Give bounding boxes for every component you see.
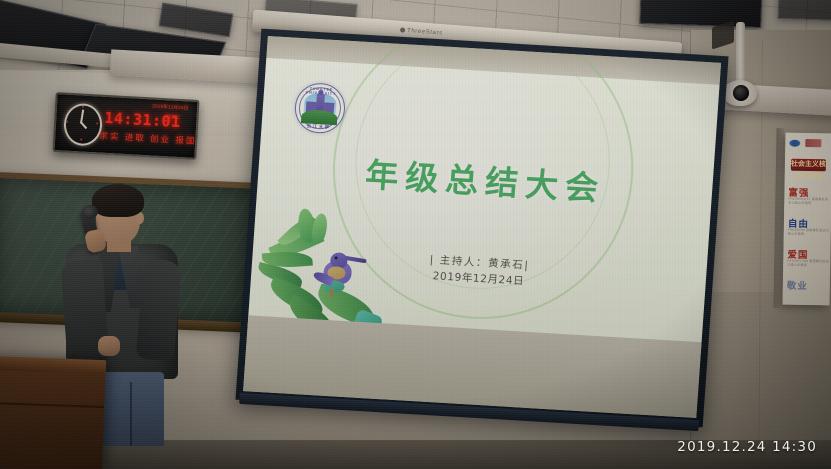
lecture-hall-photo: 2019年12月24日 星期二 14:31:01 求实 进取 创业 报国 Thr…: [0, 0, 831, 469]
screen-surface: YANGTZE UNIVERSITY 长江大学 年级总结大会 | 主持人：黄承石…: [243, 36, 721, 418]
presenter-hand-gesturing: [98, 336, 120, 356]
led-clock-panel: 2019年12月24日 星期二 14:31:01 求实 进取 创业 报国: [52, 92, 199, 160]
university-logo: YANGTZE UNIVERSITY 长江大学: [293, 82, 346, 135]
led-time: 14:31:01: [104, 109, 181, 131]
analog-clock-icon: [61, 101, 103, 145]
led-date: 2019年12月24日: [152, 103, 189, 111]
led-motto: 求实 进取 创业 报国: [99, 130, 197, 147]
projection-screen: YANGTZE UNIVERSITY 长江大学 年级总结大会 | 主持人：黄承石…: [235, 29, 728, 428]
poster-value-2-sub: FREEDOM 自由是社会主义核心价值观: [788, 228, 831, 237]
poster-banner-text: 社会主义核心价值观: [791, 159, 826, 184]
camera-lens-icon: [733, 85, 749, 101]
core-values-poster: 社会主义核心价值观 富强 PROSPERITY 富强是社会主义核心价值观 自由 …: [783, 133, 831, 306]
poster-banner: 社会主义核心价值观: [791, 159, 826, 172]
presenter-hair: [92, 184, 144, 217]
ceiling-light-fixture: [778, 0, 831, 21]
jeans-seam: [130, 382, 132, 446]
poster-logo-icon: [789, 140, 800, 147]
poster-value-1-sub: PROSPERITY 富强是社会主义核心价值观: [788, 197, 831, 206]
camera-timestamp: 2019.12.24 14:30: [677, 439, 817, 455]
poster-value-3-sub: PATRIOTISM 爱国是社会主义核心价值观: [787, 259, 830, 268]
poster-value-4: 敬业: [787, 278, 808, 292]
presenter-jeans: [102, 372, 164, 446]
poster-wordmark: [805, 139, 821, 147]
projected-slide: YANGTZE UNIVERSITY 长江大学 年级总结大会 | 主持人：黄承石…: [248, 58, 720, 352]
wooden-podium: [0, 358, 106, 469]
brand-dot-icon: [400, 27, 405, 32]
